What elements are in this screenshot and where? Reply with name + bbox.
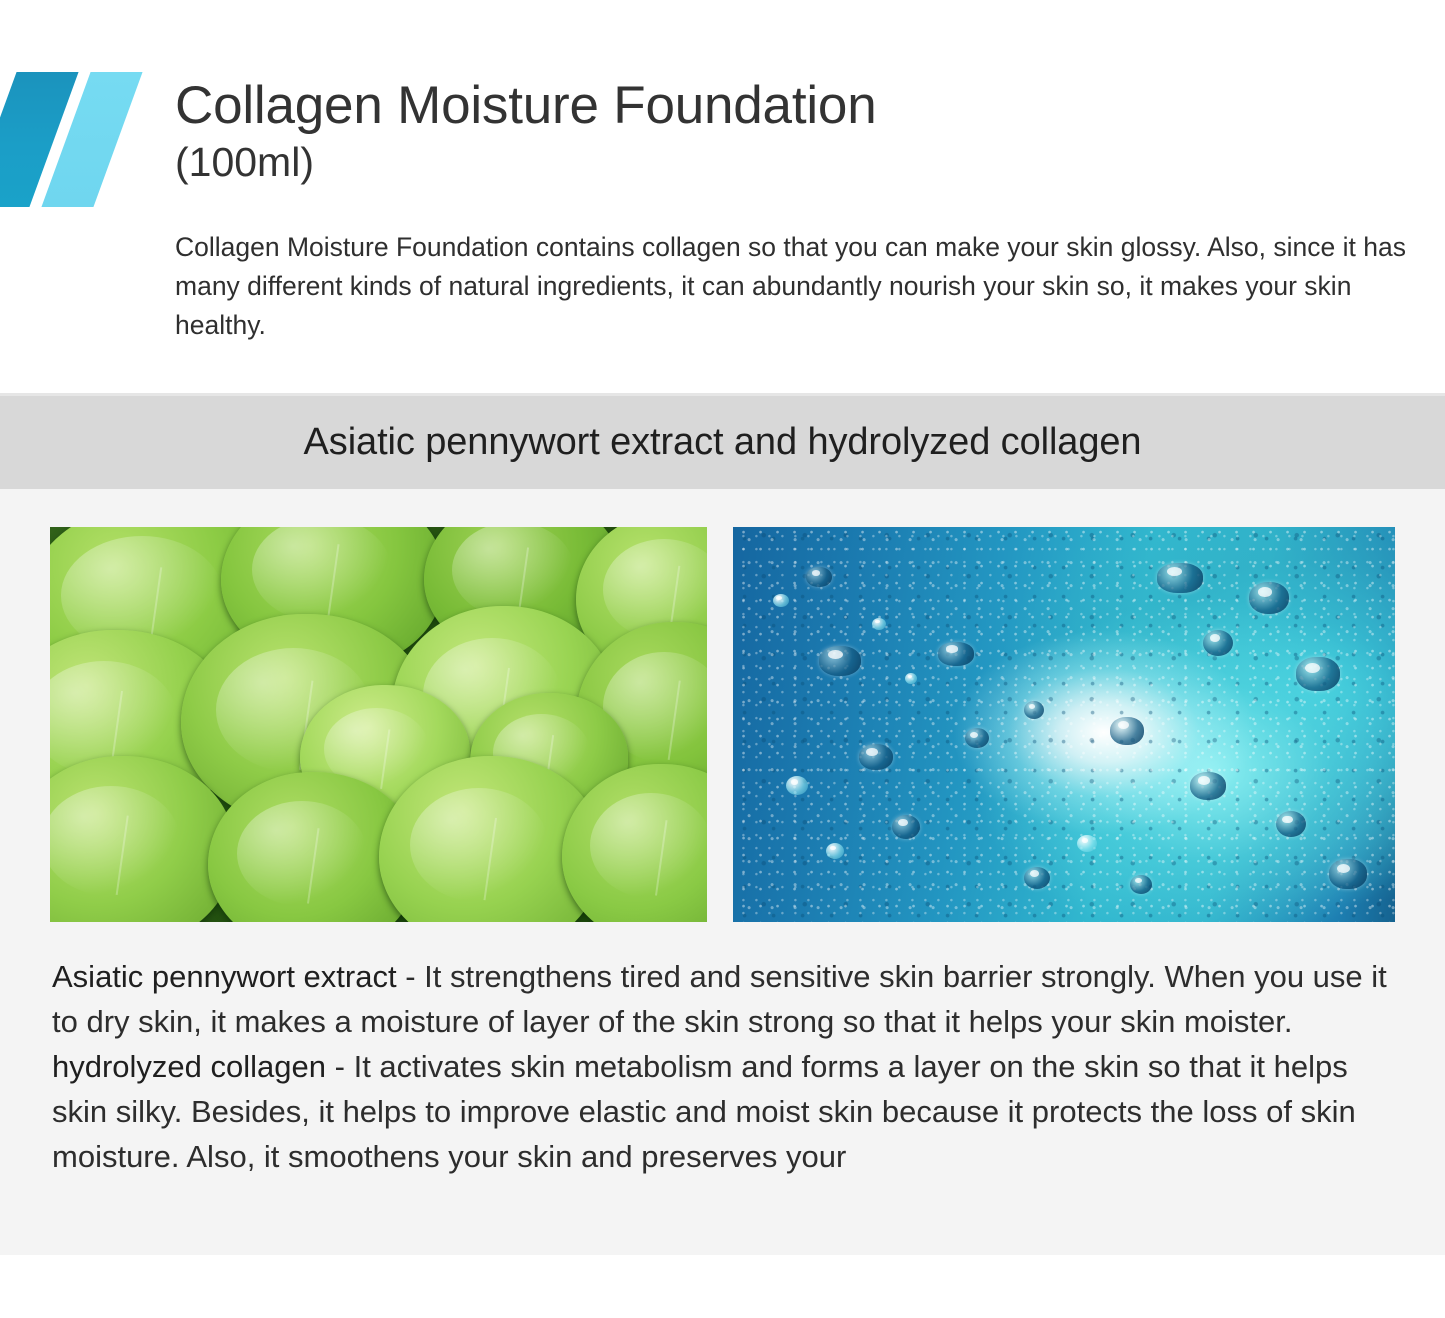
bubble	[819, 646, 861, 676]
product-intro-text: Collagen Moisture Foundation contains co…	[175, 228, 1427, 345]
header-section: Collagen Moisture Foundation (100ml) Col…	[0, 0, 1445, 393]
title-block: Collagen Moisture Foundation (100ml)	[175, 76, 1375, 186]
bubble	[1249, 582, 1289, 614]
water-bubbles-photo	[733, 527, 1395, 922]
bubble	[786, 776, 808, 795]
ingredients-section: Asiatic pennywort extract - It strengthe…	[0, 489, 1445, 1255]
water-fine-bubbles	[733, 527, 1395, 922]
product-detail-page: Collagen Moisture Foundation (100ml) Col…	[0, 0, 1445, 1318]
bubble	[938, 642, 974, 666]
bubble	[1110, 717, 1144, 745]
description-separator: -	[326, 1049, 354, 1084]
bubble	[1190, 772, 1226, 800]
bubble	[826, 843, 844, 859]
bubble	[1024, 867, 1050, 889]
bubble	[1329, 859, 1367, 889]
description-paragraph-collagen: hydrolyzed collagen - It activates skin …	[52, 1044, 1402, 1179]
asiatic-pennywort-leaves-photo	[50, 527, 707, 922]
bubble	[1296, 657, 1340, 691]
bubble	[1024, 701, 1044, 719]
bubble	[773, 594, 789, 607]
product-title: Collagen Moisture Foundation	[175, 76, 1375, 136]
bubble	[1130, 875, 1152, 894]
bubble	[872, 618, 886, 630]
ingredient-photos	[50, 527, 1395, 922]
bubble	[806, 567, 832, 587]
bubble	[1203, 630, 1233, 656]
double-slash-logo-icon	[0, 72, 150, 207]
ingredient-descriptions: Asiatic pennywort extract - It strengthe…	[52, 954, 1402, 1179]
product-volume: (100ml)	[175, 138, 1375, 186]
description-paragraph-pennywort: Asiatic pennywort extract - It strengthe…	[52, 954, 1402, 1044]
bubble	[859, 744, 893, 770]
description-lead: Asiatic pennywort extract	[52, 959, 397, 994]
bubble	[1157, 563, 1203, 593]
ingredients-banner: Asiatic pennywort extract and hydrolyzed…	[0, 393, 1445, 489]
ingredients-banner-text: Asiatic pennywort extract and hydrolyzed…	[304, 421, 1142, 464]
description-lead: hydrolyzed collagen	[52, 1049, 326, 1084]
description-separator: -	[397, 959, 425, 994]
